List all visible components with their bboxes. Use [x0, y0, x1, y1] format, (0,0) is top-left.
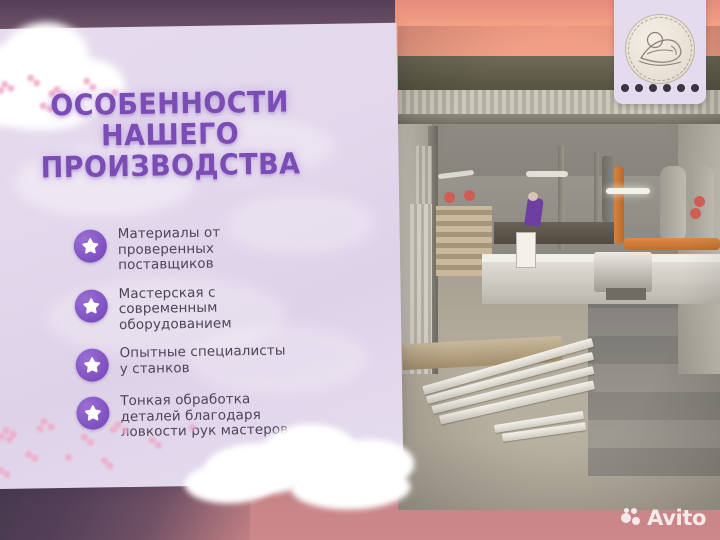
photo-ceiling-lamp-3 — [526, 171, 568, 177]
list-item-label: Мастерская с современным оборудованием — [118, 285, 231, 333]
photo-ceiling-lamp-1 — [606, 188, 650, 194]
photo-wall-sign-1 — [444, 192, 455, 203]
seal-dots — [614, 84, 706, 92]
list-item-line: оборудованием — [119, 316, 232, 333]
list-item-line: Опытные специалисты — [119, 344, 285, 362]
seal-dot — [677, 84, 685, 92]
list-item-label: Опытные специалисты у станков — [119, 344, 286, 378]
seal-dot — [663, 84, 671, 92]
content-card: ОСОБЕННОСТИ НАШЕГО ПРОИЗВОДСТВА Материал… — [0, 23, 404, 489]
photo-orange-pipe-vertical — [614, 166, 624, 244]
seal-dot — [621, 84, 629, 92]
list-item: Мастерская с современным оборудованием — [74, 283, 375, 334]
seal-dot — [691, 84, 699, 92]
avito-watermark: Avito — [621, 506, 706, 530]
star-icon — [74, 229, 108, 263]
photo-saw-base — [606, 288, 646, 300]
photo-saw-fence — [516, 232, 536, 268]
photo-wall-sign-2 — [464, 190, 475, 201]
list-item: Опытные специалисты у станков — [75, 342, 376, 382]
avito-logo-icon — [621, 508, 642, 529]
star-icon — [75, 348, 109, 382]
title-line-3: ПРОИЗВОДСТВА — [0, 148, 344, 184]
list-item: Материалы от проверенных поставщиков — [74, 223, 375, 274]
company-seal-icon — [625, 14, 695, 84]
photo-workbench — [494, 222, 614, 244]
avito-wordmark: Avito — [647, 506, 706, 530]
cloud-bottom — [184, 416, 425, 516]
photo-orange-pipe — [624, 238, 720, 250]
photo-tank-1 — [660, 166, 686, 242]
brand-logo-tab — [614, 0, 706, 104]
list-item-line: у станков — [120, 359, 286, 377]
photo-wall-sign-4 — [690, 208, 701, 219]
poster-canvas: ОСОБЕННОСТИ НАШЕГО ПРОИЗВОДСТВА Материал… — [0, 0, 720, 540]
list-item-line: поставщиков — [118, 257, 221, 274]
photo-worker-head — [528, 192, 538, 201]
page-title: ОСОБЕННОСТИ НАШЕГО ПРОИЗВОДСТВА — [0, 86, 344, 184]
seal-dot — [649, 84, 657, 92]
seal-dot — [635, 84, 643, 92]
star-icon — [75, 289, 109, 323]
photo-saw-machine — [594, 252, 652, 292]
list-item-label: Материалы от проверенных поставщиков — [118, 226, 221, 274]
photo-wall-sign-3 — [694, 196, 705, 207]
